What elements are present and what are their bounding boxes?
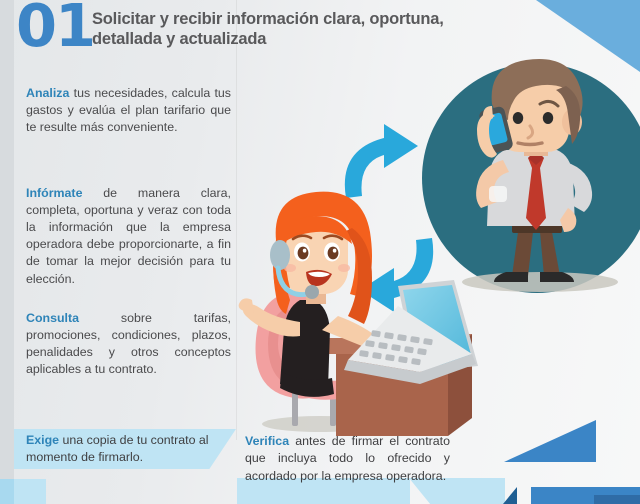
paragraph-keyword: Infórmate [26,186,82,200]
customer-man-with-phone [422,59,640,293]
note-keyword: Exige [26,433,59,447]
note-verifica: Verifica antes de firmar el contrato que… [245,433,450,485]
paragraph-keyword: Analiza [26,86,69,100]
paragraph-keyword: Consulta [26,311,79,325]
page-title: Solicitar y recibir información clara, o… [92,9,512,49]
corner-decoration-bottom-right-bar-dark [594,495,640,504]
corner-decoration-bottom-left-strip [0,479,14,504]
paragraph-informate: Infórmate de manera clara, completa, opo… [26,185,231,288]
paragraph-analiza: Analiza tus necesidades, calcula tus gas… [26,85,231,136]
note-exige: Exige una copia de tu contrato al moment… [26,432,222,467]
paragraph-text: de manera clara, completa, oportuna y ve… [26,186,231,286]
paragraph-consulta: Consulta sobre tarifas, promociones, con… [26,310,231,378]
note-keyword: Verifica [245,434,289,448]
infographic-page: 01 Solicitar y recibir información clara… [0,0,640,504]
corner-decoration-bottom-right-triangle [504,420,596,462]
corner-decoration-bottom-right-tick [503,487,517,504]
step-number: 01 [16,0,94,55]
